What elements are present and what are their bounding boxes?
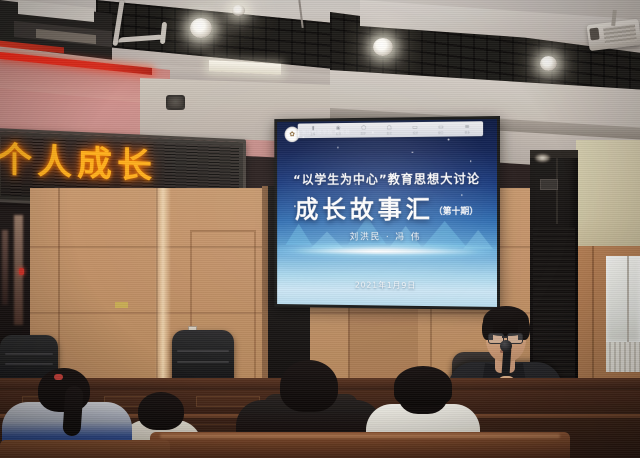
lecture-hall-photo: 个人成长 [0,0,640,458]
air-conditioner-display[interactable] [540,179,558,190]
wood-wall-highlight [155,188,171,384]
audience-head [138,392,184,430]
toolbar-item-label: 标注 [336,132,341,136]
toolbar-item[interactable]: ⬆ 上传 [302,126,325,136]
exit-indicator-light [19,268,24,275]
front-bench-highlight [160,434,560,438]
hair-clip [54,374,63,380]
glasses-bridge [502,336,507,338]
more-icon: ≡ [465,124,470,130]
toolbar-item[interactable]: ☖ 会议 [377,125,401,135]
slide-subtitle-row: 成长故事汇（第十期） [277,190,497,226]
projector-lens [589,27,599,40]
screen-icon: ▭ [412,125,418,131]
led-banner-text: 个人成长 [0,143,157,185]
toolbar-item[interactable]: ⬠ 防护 [352,125,376,135]
window-icon: ▭ [438,124,444,130]
stamp-icon: ❀ [336,126,341,132]
slide-date: 2021年1月9日 [277,279,497,292]
window [606,256,640,342]
ceiling-spotlight [190,18,212,38]
front-bench-back [0,440,170,458]
right-wall-beige [576,140,640,252]
toolbar-item[interactable]: ▭ 窗口 [429,124,453,134]
toolbar-item-label: 窗口 [438,130,443,134]
ceiling-spotlight [373,38,393,56]
wood-panel-seam [58,188,60,384]
stage-chair [172,330,234,382]
upload-icon: ⬆ [311,126,316,132]
air-conditioner-highlight [535,154,550,162]
radiator [606,342,640,372]
toolbar-item-label: 防护 [361,131,366,135]
toolbar-item[interactable]: ❀ 标注 [327,125,350,135]
slide-speakers: 刘洪民 · 冯 伟 [277,229,497,243]
wall-sticker [115,302,128,308]
slide-subtitle: 成长故事汇 [295,196,434,225]
doorway-light-glow [2,230,8,305]
person-icon: ☖ [387,125,392,131]
toolbar-item-label: 上传 [311,132,316,136]
audience-ponytail [62,385,83,436]
slide-edition-badge: （第十期） [434,207,478,217]
ceiling-spotlight [232,5,245,16]
ceiling-vent-speaker [166,95,185,110]
audience-hair [394,366,452,406]
microphone-head [500,340,512,352]
projection-screen: ✿ 浙江科技学院 教务处 ⬆ 上传 ❀ 标注 ⬠ 防护 ☖ 会议 [274,116,500,310]
ceiling-grille-left [96,0,346,70]
toolbar-item-label: 更多 [464,130,469,134]
wood-panel-seam [592,246,594,384]
presentation-slide: ✿ 浙江科技学院 教务处 ⬆ 上传 ❀ 标注 ⬠ 防护 ☖ 会议 [277,119,497,307]
toolbar-item[interactable]: ▭ 投屏 [403,124,427,134]
meeting-toolbar[interactable]: ⬆ 上传 ❀ 标注 ⬠ 防护 ☖ 会议 ▭ 投屏 [298,121,483,138]
slide-title: “以学生为中心”教育思想大讨论 [277,168,497,188]
ceiling-spotlight [540,56,557,71]
toolbar-item-label: 会议 [387,131,392,135]
air-conditioner-seam [556,158,558,224]
shield-icon: ⬠ [361,125,366,131]
window-mullion [627,256,629,342]
audience-head [280,360,338,412]
toolbar-item-label: 投屏 [412,131,417,135]
toolbar-item[interactable]: ≡ 更多 [455,124,479,134]
